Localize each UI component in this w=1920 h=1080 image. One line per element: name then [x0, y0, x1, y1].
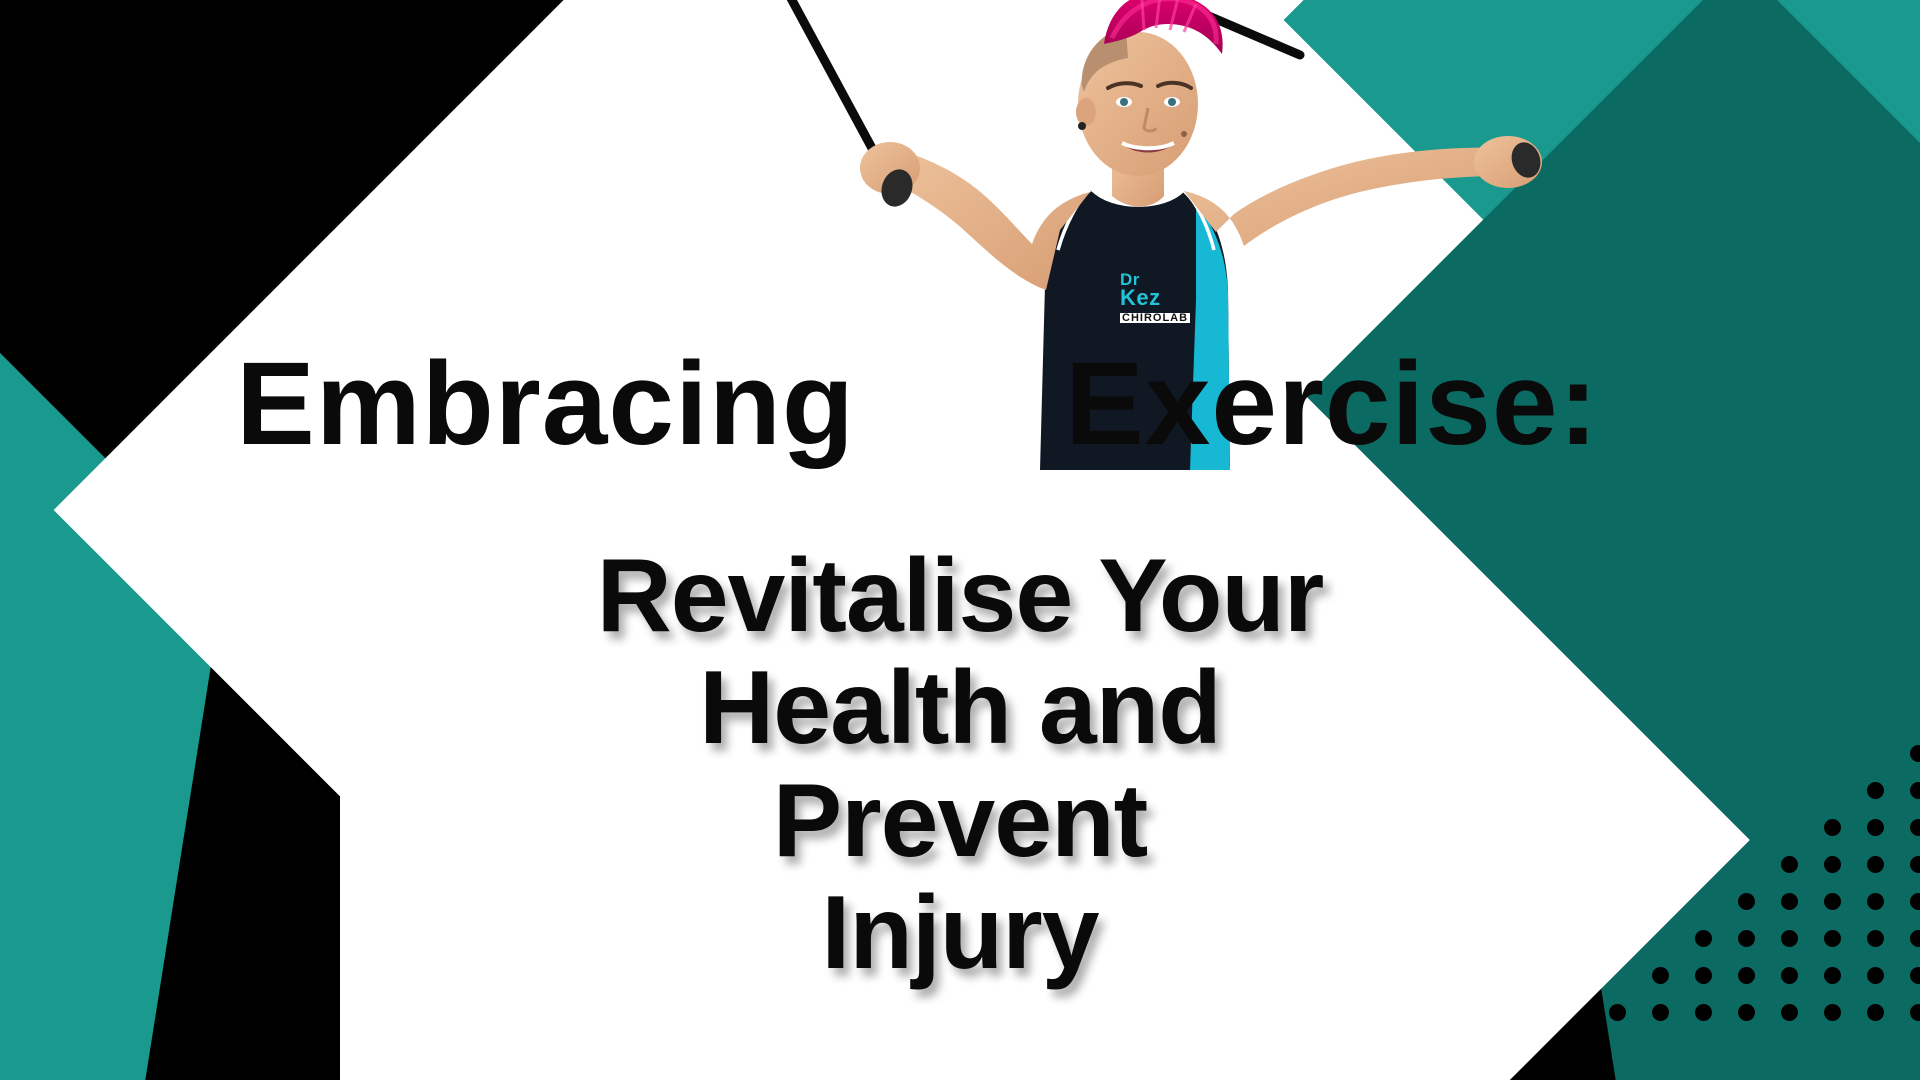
decorative-dot	[158, 180, 175, 197]
decorative-dot	[360, 90, 377, 107]
decorative-dot	[113, 180, 130, 197]
decorative-dot	[1867, 819, 1884, 836]
decorative-dot	[405, 30, 422, 47]
decorative-dot	[1824, 930, 1841, 947]
decorative-dot	[1824, 856, 1841, 873]
dot-pattern-top-left	[0, 30, 420, 260]
decorative-dot	[135, 90, 152, 107]
decorative-dot	[68, 120, 85, 137]
decorative-dot	[1910, 819, 1920, 836]
decorative-dot	[293, 180, 310, 197]
decorative-dot	[158, 120, 175, 137]
decorative-dot	[225, 90, 242, 107]
decorative-dot	[90, 90, 107, 107]
decorative-dot	[1824, 967, 1841, 984]
decorative-dot	[203, 240, 220, 257]
decorative-dot	[180, 30, 197, 47]
decorative-dot	[1910, 1004, 1920, 1021]
decorative-dot	[1652, 1004, 1669, 1021]
decorative-dot	[1738, 930, 1755, 947]
decorative-dot	[248, 120, 265, 137]
decorative-dot	[1867, 967, 1884, 984]
decorative-dot	[135, 150, 152, 167]
decorative-dot	[383, 60, 400, 77]
dot-pattern-bottom-right	[1610, 745, 1920, 1045]
decorative-dot	[1867, 856, 1884, 873]
decorative-dot	[293, 60, 310, 77]
decorative-dot	[225, 270, 242, 287]
decorative-dot	[270, 210, 287, 227]
decorative-dot	[1910, 967, 1920, 984]
decorative-dot	[180, 270, 197, 287]
decorative-dot	[315, 90, 332, 107]
decorative-dot	[1824, 819, 1841, 836]
decorative-dot	[180, 90, 197, 107]
decorative-dot	[1695, 930, 1712, 947]
decorative-dot	[158, 240, 175, 257]
decorative-dot	[1910, 856, 1920, 873]
decorative-dot	[1867, 1004, 1884, 1021]
decorative-dot	[248, 240, 265, 257]
logo-line-kez: Kez	[1120, 288, 1210, 309]
decorative-dot	[1738, 1004, 1755, 1021]
decorative-dot	[225, 30, 242, 47]
decorative-dot	[1910, 930, 1920, 947]
decorative-dot	[135, 30, 152, 47]
decorative-dot	[225, 210, 242, 227]
shirt-brand-logo: Dr Kez CHIROLAB	[1120, 272, 1210, 324]
decorative-dot	[45, 30, 62, 47]
decorative-dot	[248, 60, 265, 77]
decorative-dot	[270, 30, 287, 47]
decorative-dot	[1781, 893, 1798, 910]
decorative-dot	[90, 150, 107, 167]
decorative-dot	[225, 150, 242, 167]
decorative-dot	[270, 90, 287, 107]
decorative-dot	[1738, 967, 1755, 984]
decorative-dot	[1609, 1004, 1626, 1021]
decorative-dot	[1781, 930, 1798, 947]
decorative-dot	[68, 60, 85, 77]
decorative-dot	[23, 60, 40, 77]
decorative-dot	[338, 120, 355, 137]
decorative-dot	[1781, 967, 1798, 984]
decorative-dot	[135, 210, 152, 227]
decorative-dot	[113, 120, 130, 137]
decorative-dot	[45, 90, 62, 107]
decorative-dot	[180, 150, 197, 167]
decorative-dot	[1910, 782, 1920, 799]
decorative-dot	[1867, 893, 1884, 910]
decorative-dot	[360, 30, 377, 47]
decorative-dot	[90, 30, 107, 47]
decorative-dot	[203, 180, 220, 197]
decorative-dot	[270, 150, 287, 167]
decorative-dot	[1867, 782, 1884, 799]
decorative-dot	[0, 30, 17, 47]
decorative-dot	[315, 30, 332, 47]
decorative-dot	[1781, 856, 1798, 873]
shape-white-bottom-fill	[660, 880, 1220, 1080]
decorative-dot	[315, 150, 332, 167]
decorative-dot	[1738, 893, 1755, 910]
decorative-dot	[293, 120, 310, 137]
decorative-dot	[1824, 1004, 1841, 1021]
decorative-dot	[203, 60, 220, 77]
hero-photo-person	[760, 0, 1580, 470]
decorative-dot	[248, 180, 265, 197]
decorative-dot	[1910, 893, 1920, 910]
banner-canvas: Dr Kez CHIROLAB EmbracingExercise: Revit…	[0, 0, 1920, 1080]
decorative-dot	[180, 210, 197, 227]
decorative-dot	[158, 60, 175, 77]
decorative-dot	[203, 120, 220, 137]
decorative-dot	[1695, 1004, 1712, 1021]
decorative-dot	[338, 60, 355, 77]
logo-line-chirolab: CHIROLAB	[1120, 313, 1190, 323]
decorative-dot	[1695, 967, 1712, 984]
decorative-dot	[1781, 1004, 1798, 1021]
decorative-dot	[1824, 893, 1841, 910]
decorative-dot	[1910, 745, 1920, 762]
decorative-dot	[113, 60, 130, 77]
decorative-dot	[1652, 967, 1669, 984]
decorative-dot	[1867, 930, 1884, 947]
